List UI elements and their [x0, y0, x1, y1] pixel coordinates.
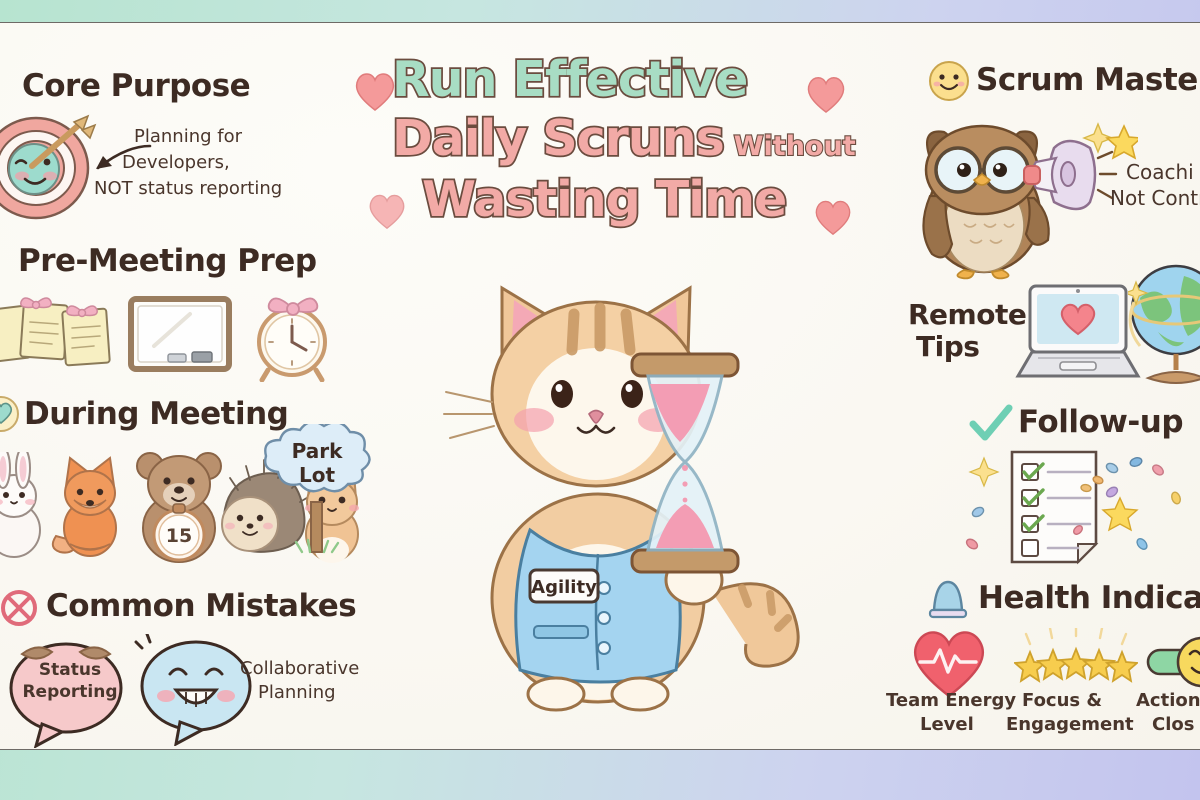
title-line-2: Daily Scruns	[392, 114, 724, 163]
section-title-core-purpose: Core Purpose	[22, 68, 250, 104]
collaborative-planning-label-2: Planning	[258, 682, 336, 704]
core-purpose-annotation-line-2: Developers,	[122, 152, 230, 174]
mascot-cat-with-hourglass: Agility	[426, 262, 826, 714]
laptop-heart-icon	[1008, 284, 1148, 388]
metric-2-label-line-1: Focus &	[1022, 690, 1102, 712]
section-title-pre-meeting-prep: Pre-Meeting Prep	[18, 243, 317, 279]
check-icon	[968, 404, 1014, 444]
scrum-master-annotation-line-1: Coachi	[1126, 160, 1194, 184]
collaborative-planning-label-1: Collaborative	[240, 658, 359, 680]
five-stars-icon	[1014, 628, 1138, 690]
metric-1-label-line-2: Level	[920, 714, 974, 736]
status-reporting-label-1: Status	[30, 660, 110, 681]
fox-icon	[44, 448, 134, 560]
metric-2-label-line-2: Engagement	[1006, 714, 1134, 736]
collaborative-planning-bubble-icon	[134, 634, 258, 746]
rabbit-icon	[0, 452, 50, 560]
section-title-health-indicators: Health Indicators	[978, 580, 1200, 616]
park-lot-line-1: Park	[292, 439, 343, 463]
core-purpose-annotation-line-1: Planning for	[134, 126, 242, 148]
section-title-during-meeting: During Meeting	[24, 396, 288, 432]
no-entry-icon	[0, 588, 42, 628]
section-title-common-mistakes: Common Mistakes	[46, 588, 356, 624]
section-title-scrum-master-role: Scrum Master Ro	[976, 62, 1200, 98]
sticky-notes-icon	[0, 292, 114, 376]
heart-icon	[366, 190, 408, 230]
section-title-follow-up: Follow-up	[1018, 404, 1183, 440]
park-lot-line-2: Lot	[299, 463, 335, 487]
toggle-smiley-icon	[1146, 636, 1200, 694]
remote-tips-title-line-2: Tips	[916, 330, 979, 363]
stopwatch-value: 15	[166, 525, 192, 547]
title-line-2-suffix: Without	[734, 131, 856, 162]
confetti-decoration	[960, 440, 1200, 570]
scrum-master-annotation-line-2: Not Contr	[1110, 186, 1200, 210]
heart-icon	[812, 196, 854, 236]
heart-pulse-icon	[908, 624, 990, 700]
heart-icon	[804, 72, 848, 114]
status-reporting-label-2: Reporting	[14, 682, 126, 703]
heart-circle-icon	[0, 394, 26, 434]
globe-icon	[1128, 258, 1200, 388]
infographic-poster: Run Effective Daily Scruns Without Wasti…	[0, 0, 1200, 800]
alarm-clock-icon	[246, 286, 338, 382]
metric-3-label-line-2: Clos	[1152, 714, 1194, 736]
owl-with-megaphone-icon	[908, 110, 1138, 280]
mascot-badge-label: Agility	[531, 577, 597, 598]
heart-icon	[352, 68, 398, 112]
core-purpose-annotation-line-3: NOT status reporting	[94, 178, 282, 200]
smiley-icon	[928, 60, 970, 102]
bell-icon	[924, 578, 972, 622]
park-lot-sign-icon: Park Lot	[258, 424, 376, 564]
whiteboard-icon	[128, 296, 232, 374]
metric-1-label-line-1: Team Energy	[886, 690, 1016, 712]
metric-3-label-line-1: Action	[1136, 690, 1200, 712]
